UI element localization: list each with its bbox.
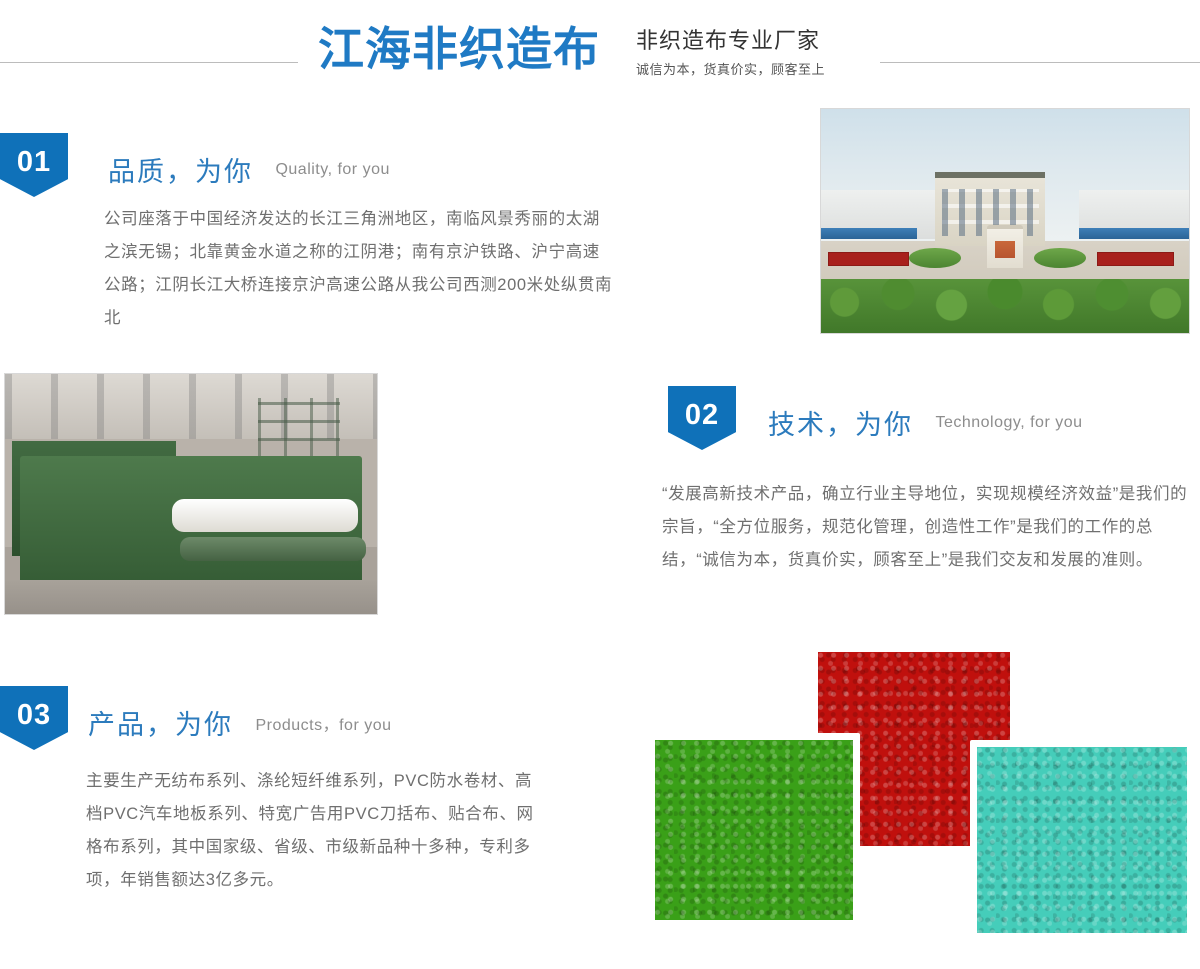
- swatch-turquoise-fill: [977, 747, 1187, 933]
- machine-floor: [5, 580, 377, 614]
- section-badge-01: 01: [0, 133, 68, 197]
- photo-sign-left: [828, 252, 909, 265]
- factory-photo: [820, 108, 1190, 334]
- brand-title: 江海非织造布: [318, 20, 600, 78]
- section-title-en-02: Technology, for you: [935, 414, 1082, 431]
- section-title-cn-03: 产品，为你: [88, 710, 233, 740]
- tagline-sub: 诚信为本，货真价实，顾客至上: [636, 59, 856, 81]
- machine-photo-canvas: [5, 374, 377, 614]
- swatch-green: [648, 733, 860, 927]
- header-divider-right: [880, 62, 1200, 63]
- section-body-text-03: 主要生产无纺布系列、涤纶短纤维系列，PVC防水卷材、高档PVC汽车地板系列、特宽…: [86, 765, 536, 897]
- machine-fabric-roll: [172, 499, 358, 533]
- section-body-text-02: “发展高新技术产品，确立行业主导地位，实现规模经济效益”是我们的宗旨，“全方位服…: [662, 478, 1190, 577]
- photo-guard-booth: [987, 225, 1024, 268]
- photo-awning-right: [1079, 228, 1189, 239]
- section-title-01: 品质，为你 Quality, for you: [108, 150, 390, 189]
- promo-page: 江海非织造布 非织造布专业厂家 诚信为本，货真价实，顾客至上 01 品质，为你 …: [0, 0, 1200, 969]
- photo-shrub-left: [909, 248, 961, 268]
- page-header: 江海非织造布 非织造布专业厂家 诚信为本，货真价实，顾客至上: [0, 0, 1200, 100]
- machine-photo: [4, 373, 378, 615]
- photo-sign-right: [1097, 252, 1174, 265]
- section-body-02: “发展高新技术产品，确立行业主导地位，实现规模经济效益”是我们的宗旨，“全方位服…: [662, 478, 1190, 577]
- section-badge-03: 03: [0, 686, 68, 750]
- machine-drum: [180, 537, 366, 561]
- tagline-main: 非织造布专业厂家: [636, 26, 856, 56]
- photo-shrub-right: [1034, 248, 1086, 268]
- photo-hedge: [820, 279, 1190, 334]
- section-body-03: 主要生产无纺布系列、涤纶短纤维系列，PVC防水卷材、高档PVC汽车地板系列、特宽…: [86, 765, 536, 897]
- section-title-cn-01: 品质，为你: [108, 157, 253, 187]
- swatch-turquoise: [970, 740, 1194, 940]
- brand-tagline: 非织造布专业厂家 诚信为本，货真价实，顾客至上: [636, 26, 856, 81]
- section-title-03: 产品，为你 Products，for you: [88, 703, 392, 742]
- section-title-en-03: Products，for you: [255, 717, 391, 734]
- section-title-02: 技术，为你 Technology, for you: [768, 403, 1083, 442]
- section-title-en-01: Quality, for you: [275, 161, 389, 178]
- header-divider-left: [0, 62, 298, 63]
- photo-awning-left: [821, 228, 917, 239]
- section-body-text-01: 公司座落于中国经济发达的长江三角洲地区，南临风景秀丽的太湖之滨无锡；北靠黄金水道…: [104, 203, 616, 335]
- swatch-green-fill: [655, 740, 853, 920]
- section-badge-02: 02: [668, 386, 736, 450]
- section-body-01: 公司座落于中国经济发达的长江三角洲地区，南临风景秀丽的太湖之滨无锡；北靠黄金水道…: [104, 203, 616, 335]
- section-title-cn-02: 技术，为你: [768, 410, 913, 440]
- factory-photo-canvas: [821, 109, 1189, 333]
